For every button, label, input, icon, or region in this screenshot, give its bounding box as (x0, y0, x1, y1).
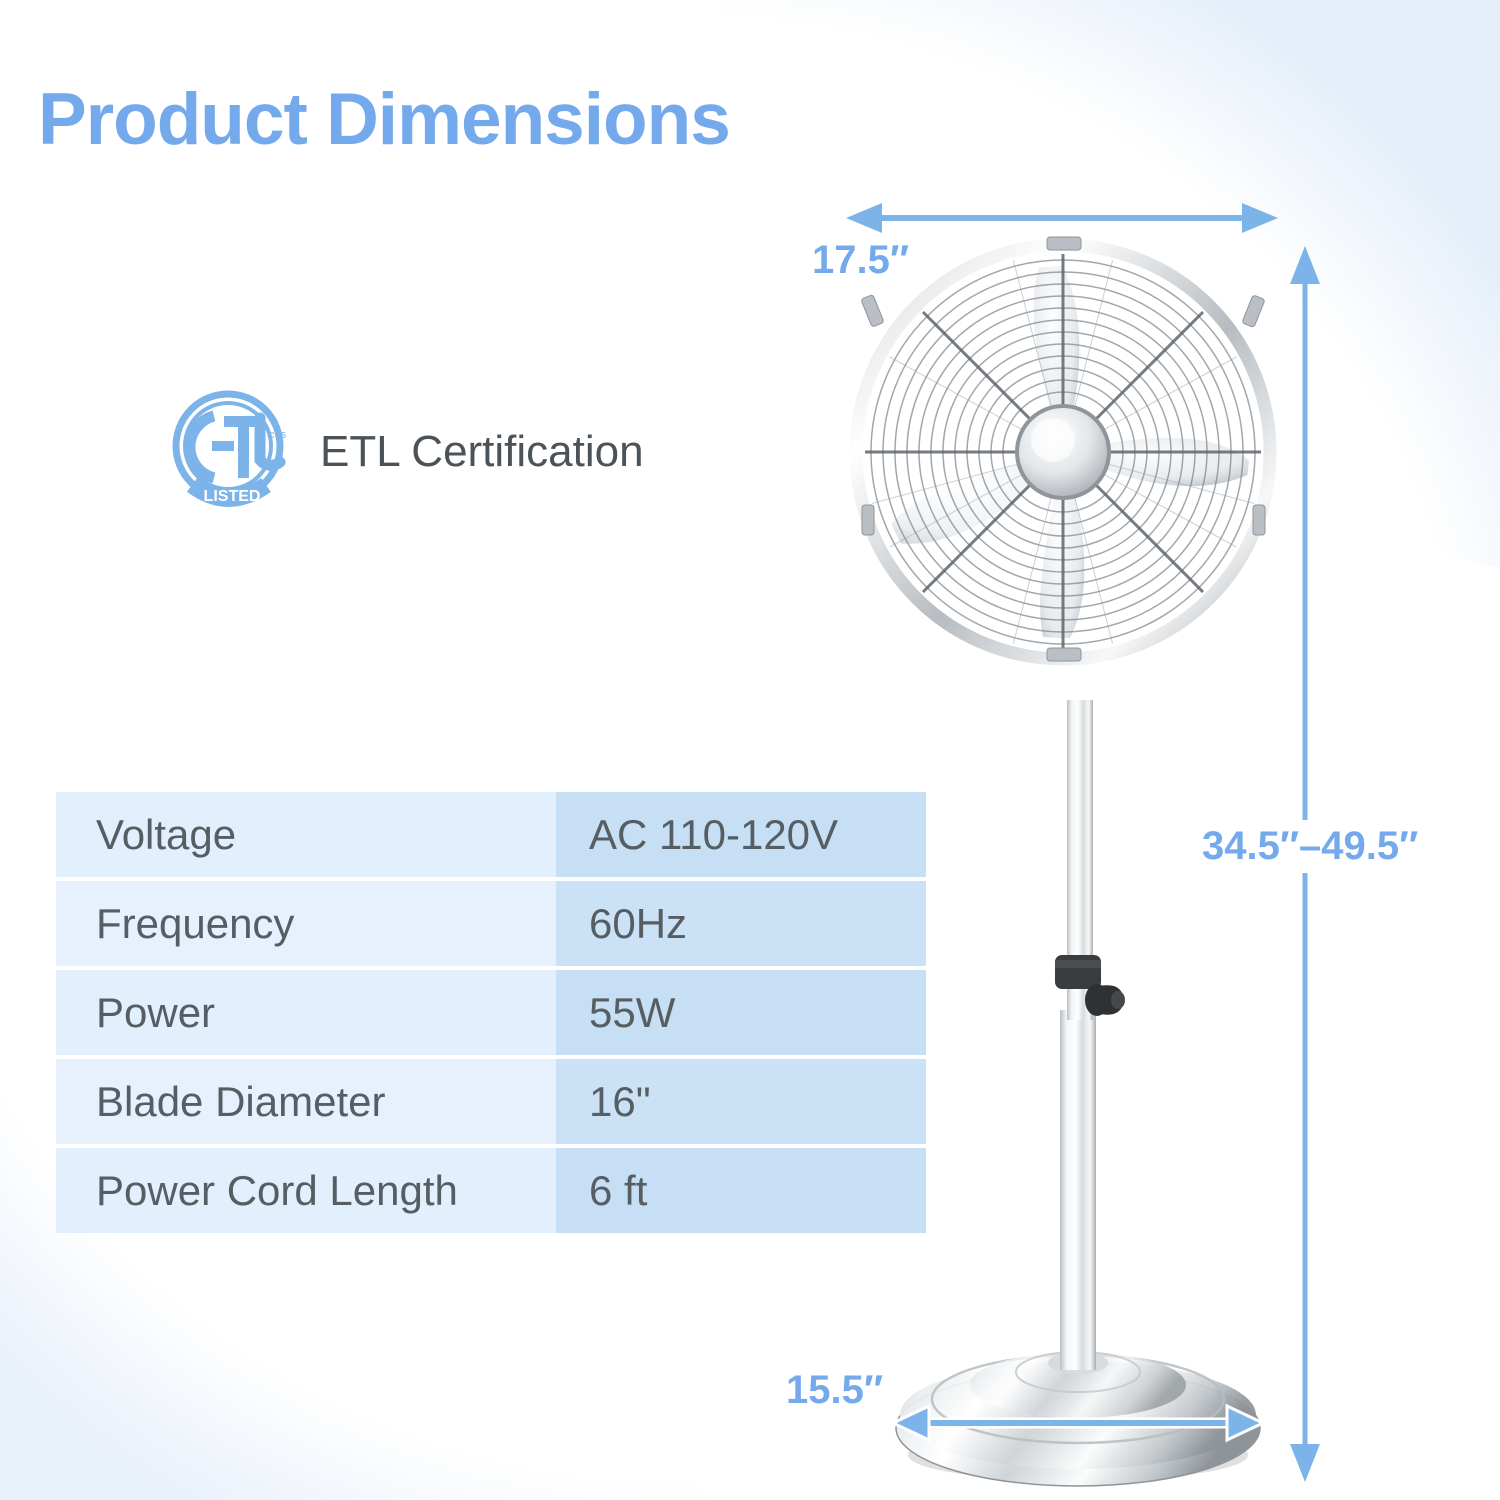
lower-pole (1060, 1010, 1096, 1370)
dimension-arrow-width-top (846, 203, 1278, 233)
dimension-label-width-top: 17.5″ (812, 238, 909, 283)
pedestal-fan-illustration (0, 0, 1500, 1500)
dimension-label-width-bottom: 15.5″ (786, 1368, 883, 1413)
infographic-canvas: Product Dimensions cus LISTED ETL Certif… (0, 0, 1500, 1500)
dimension-label-height-right: 34.5″–49.5″ (1196, 820, 1424, 873)
height-adjust-knob (1085, 984, 1125, 1016)
